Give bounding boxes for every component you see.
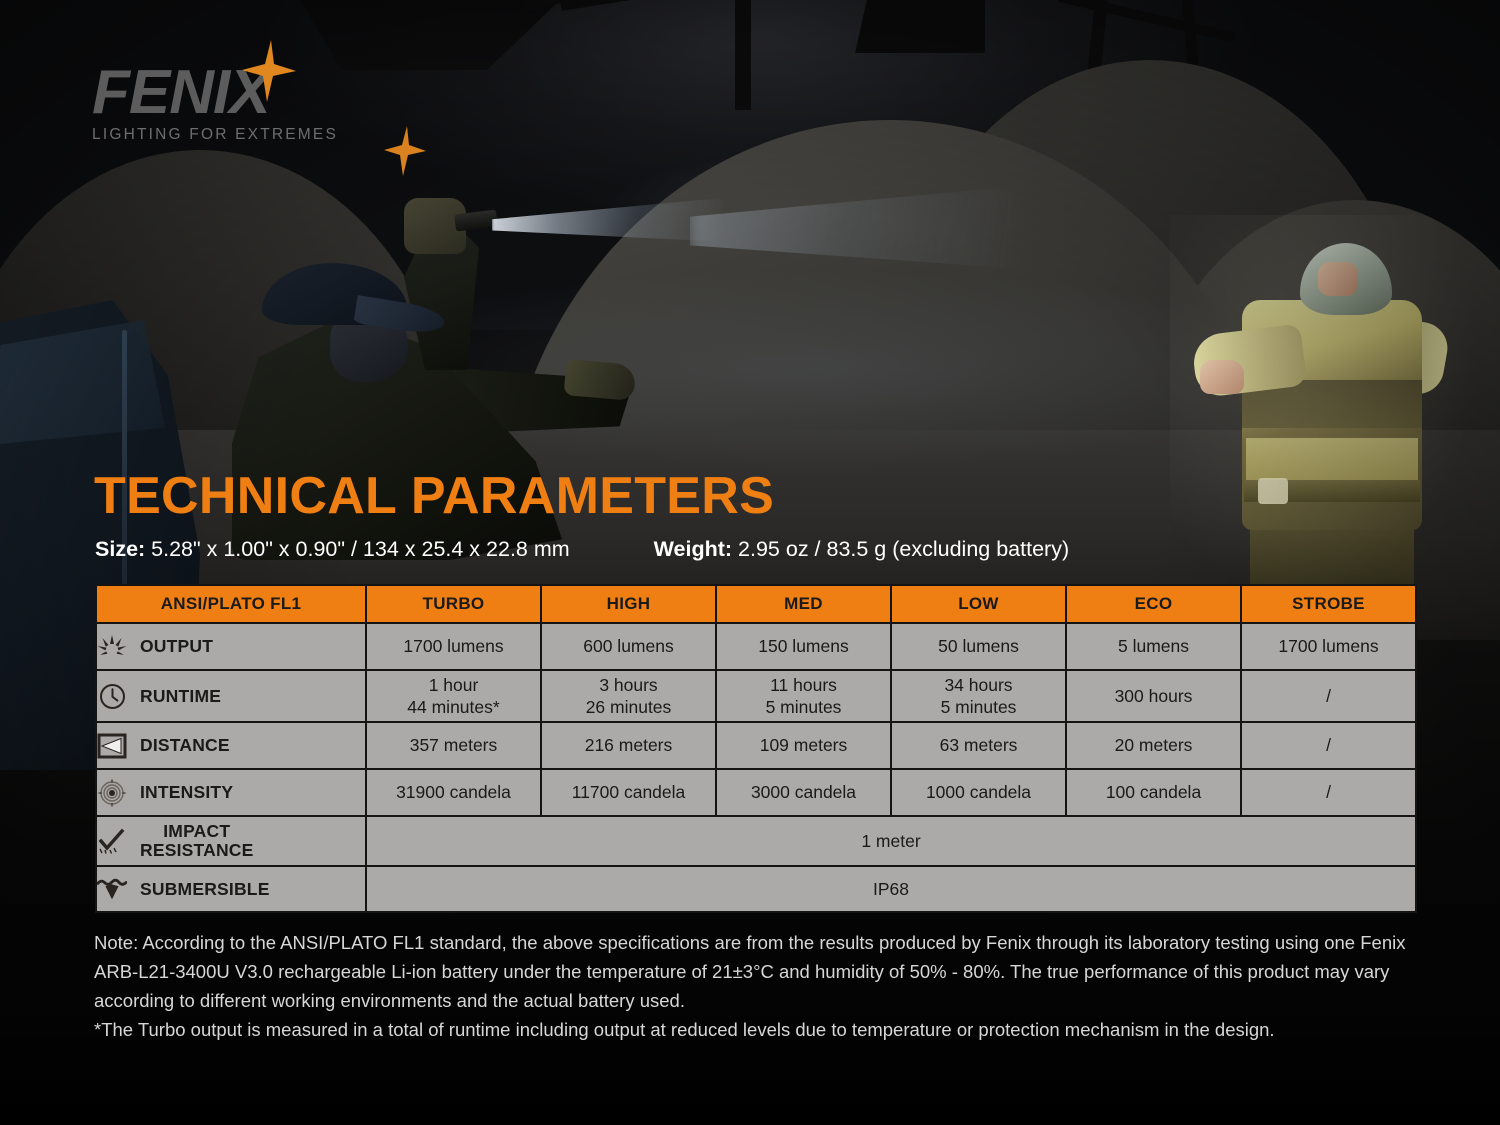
row-label-text: INTENSITY <box>140 783 233 802</box>
size-value: 5.28" x 1.00" x 0.90" / 134 x 25.4 x 22.… <box>151 537 570 561</box>
size-weight-line: Size: 5.28" x 1.00" x 0.90" / 134 x 25.4… <box>95 535 1415 563</box>
cell-submersible-value: IP68 <box>367 867 1415 911</box>
sparkle-icon <box>384 126 426 176</box>
impact-check-icon <box>97 826 127 856</box>
weight-label: Weight: <box>654 537 732 561</box>
header-eco: ECO <box>1067 586 1240 622</box>
header-ansi-plato: ANSI/PLATO FL1 <box>97 586 365 622</box>
water-drop-icon <box>97 874 127 904</box>
table-row: SUBMERSIBLE IP68 <box>97 867 1415 911</box>
cell-distance-turbo: 357 meters <box>367 723 540 768</box>
table-row: OUTPUT 1700 lumens 600 lumens 150 lumens… <box>97 624 1415 669</box>
weight-value: 2.95 oz / 83.5 g (excluding battery) <box>738 537 1069 561</box>
notes-block: Note: According to the ANSI/PLATO FL1 st… <box>94 928 1414 1044</box>
table-row: DISTANCE 357 meters 216 meters 109 meter… <box>97 723 1415 768</box>
cell-distance-low: 63 meters <box>892 723 1065 768</box>
beam-distance-icon <box>97 731 127 761</box>
cell-intensity-eco: 100 candela <box>1067 770 1240 815</box>
cell-runtime-strobe: / <box>1242 671 1415 721</box>
cell-intensity-high: 11700 candela <box>542 770 715 815</box>
cell-intensity-low: 1000 candela <box>892 770 1065 815</box>
row-label-output: OUTPUT <box>97 624 365 669</box>
page-title: TECHNICAL PARAMETERS <box>94 466 774 526</box>
header-med: MED <box>717 586 890 622</box>
cell-distance-eco: 20 meters <box>1067 723 1240 768</box>
cell-distance-med: 109 meters <box>717 723 890 768</box>
cell-output-strobe: 1700 lumens <box>1242 624 1415 669</box>
table-row: RUNTIME 1 hour44 minutes* 3 hours26 minu… <box>97 671 1415 721</box>
row-label-submersible: SUBMERSIBLE <box>97 867 365 911</box>
row-label-runtime: RUNTIME <box>97 671 365 721</box>
fenix-logo: FENIX LIGHTING FOR EXTREMES <box>92 62 422 157</box>
cell-distance-strobe: / <box>1242 723 1415 768</box>
cell-output-med: 150 lumens <box>717 624 890 669</box>
logo-tagline: LIGHTING FOR EXTREMES <box>92 126 422 144</box>
row-label-text: IMPACTRESISTANCE <box>140 822 254 860</box>
cell-output-turbo: 1700 lumens <box>367 624 540 669</box>
row-label-distance: DISTANCE <box>97 723 365 768</box>
row-label-text: SUBMERSIBLE <box>140 880 270 899</box>
table-row: INTENSITY 31900 candela 11700 candela 30… <box>97 770 1415 815</box>
row-label-text: OUTPUT <box>140 637 213 656</box>
table-header-row: ANSI/PLATO FL1 TURBO HIGH MED LOW ECO ST… <box>97 586 1415 622</box>
cell-output-high: 600 lumens <box>542 624 715 669</box>
table-row: IMPACTRESISTANCE 1 meter <box>97 817 1415 865</box>
row-label-text: DISTANCE <box>140 736 230 755</box>
size-label: Size: <box>95 537 145 561</box>
cell-impact-resistance-value: 1 meter <box>367 817 1415 865</box>
cell-intensity-med: 3000 candela <box>717 770 890 815</box>
row-label-text: RUNTIME <box>140 687 221 706</box>
cell-distance-high: 216 meters <box>542 723 715 768</box>
note-footnote: *The Turbo output is measured in a total… <box>94 1015 1414 1044</box>
cell-intensity-strobe: / <box>1242 770 1415 815</box>
target-icon <box>97 778 127 808</box>
note-main: Note: According to the ANSI/PLATO FL1 st… <box>94 928 1414 1015</box>
cell-runtime-med: 11 hours5 minutes <box>717 671 890 721</box>
header-strobe: STROBE <box>1242 586 1415 622</box>
header-low: LOW <box>892 586 1065 622</box>
sunburst-icon <box>97 632 127 662</box>
cell-output-eco: 5 lumens <box>1067 624 1240 669</box>
row-label-impact-resistance: IMPACTRESISTANCE <box>97 817 365 865</box>
row-label-intensity: INTENSITY <box>97 770 365 815</box>
cell-runtime-low: 34 hours5 minutes <box>892 671 1065 721</box>
header-turbo: TURBO <box>367 586 540 622</box>
cell-runtime-turbo: 1 hour44 minutes* <box>367 671 540 721</box>
cell-runtime-eco: 300 hours <box>1067 671 1240 721</box>
technical-parameters-table: ANSI/PLATO FL1 TURBO HIGH MED LOW ECO ST… <box>95 584 1417 913</box>
cell-intensity-turbo: 31900 candela <box>367 770 540 815</box>
cell-runtime-high: 3 hours26 minutes <box>542 671 715 721</box>
clock-icon <box>97 681 127 711</box>
sparkle-icon <box>242 40 296 102</box>
cell-output-low: 50 lumens <box>892 624 1065 669</box>
header-high: HIGH <box>542 586 715 622</box>
